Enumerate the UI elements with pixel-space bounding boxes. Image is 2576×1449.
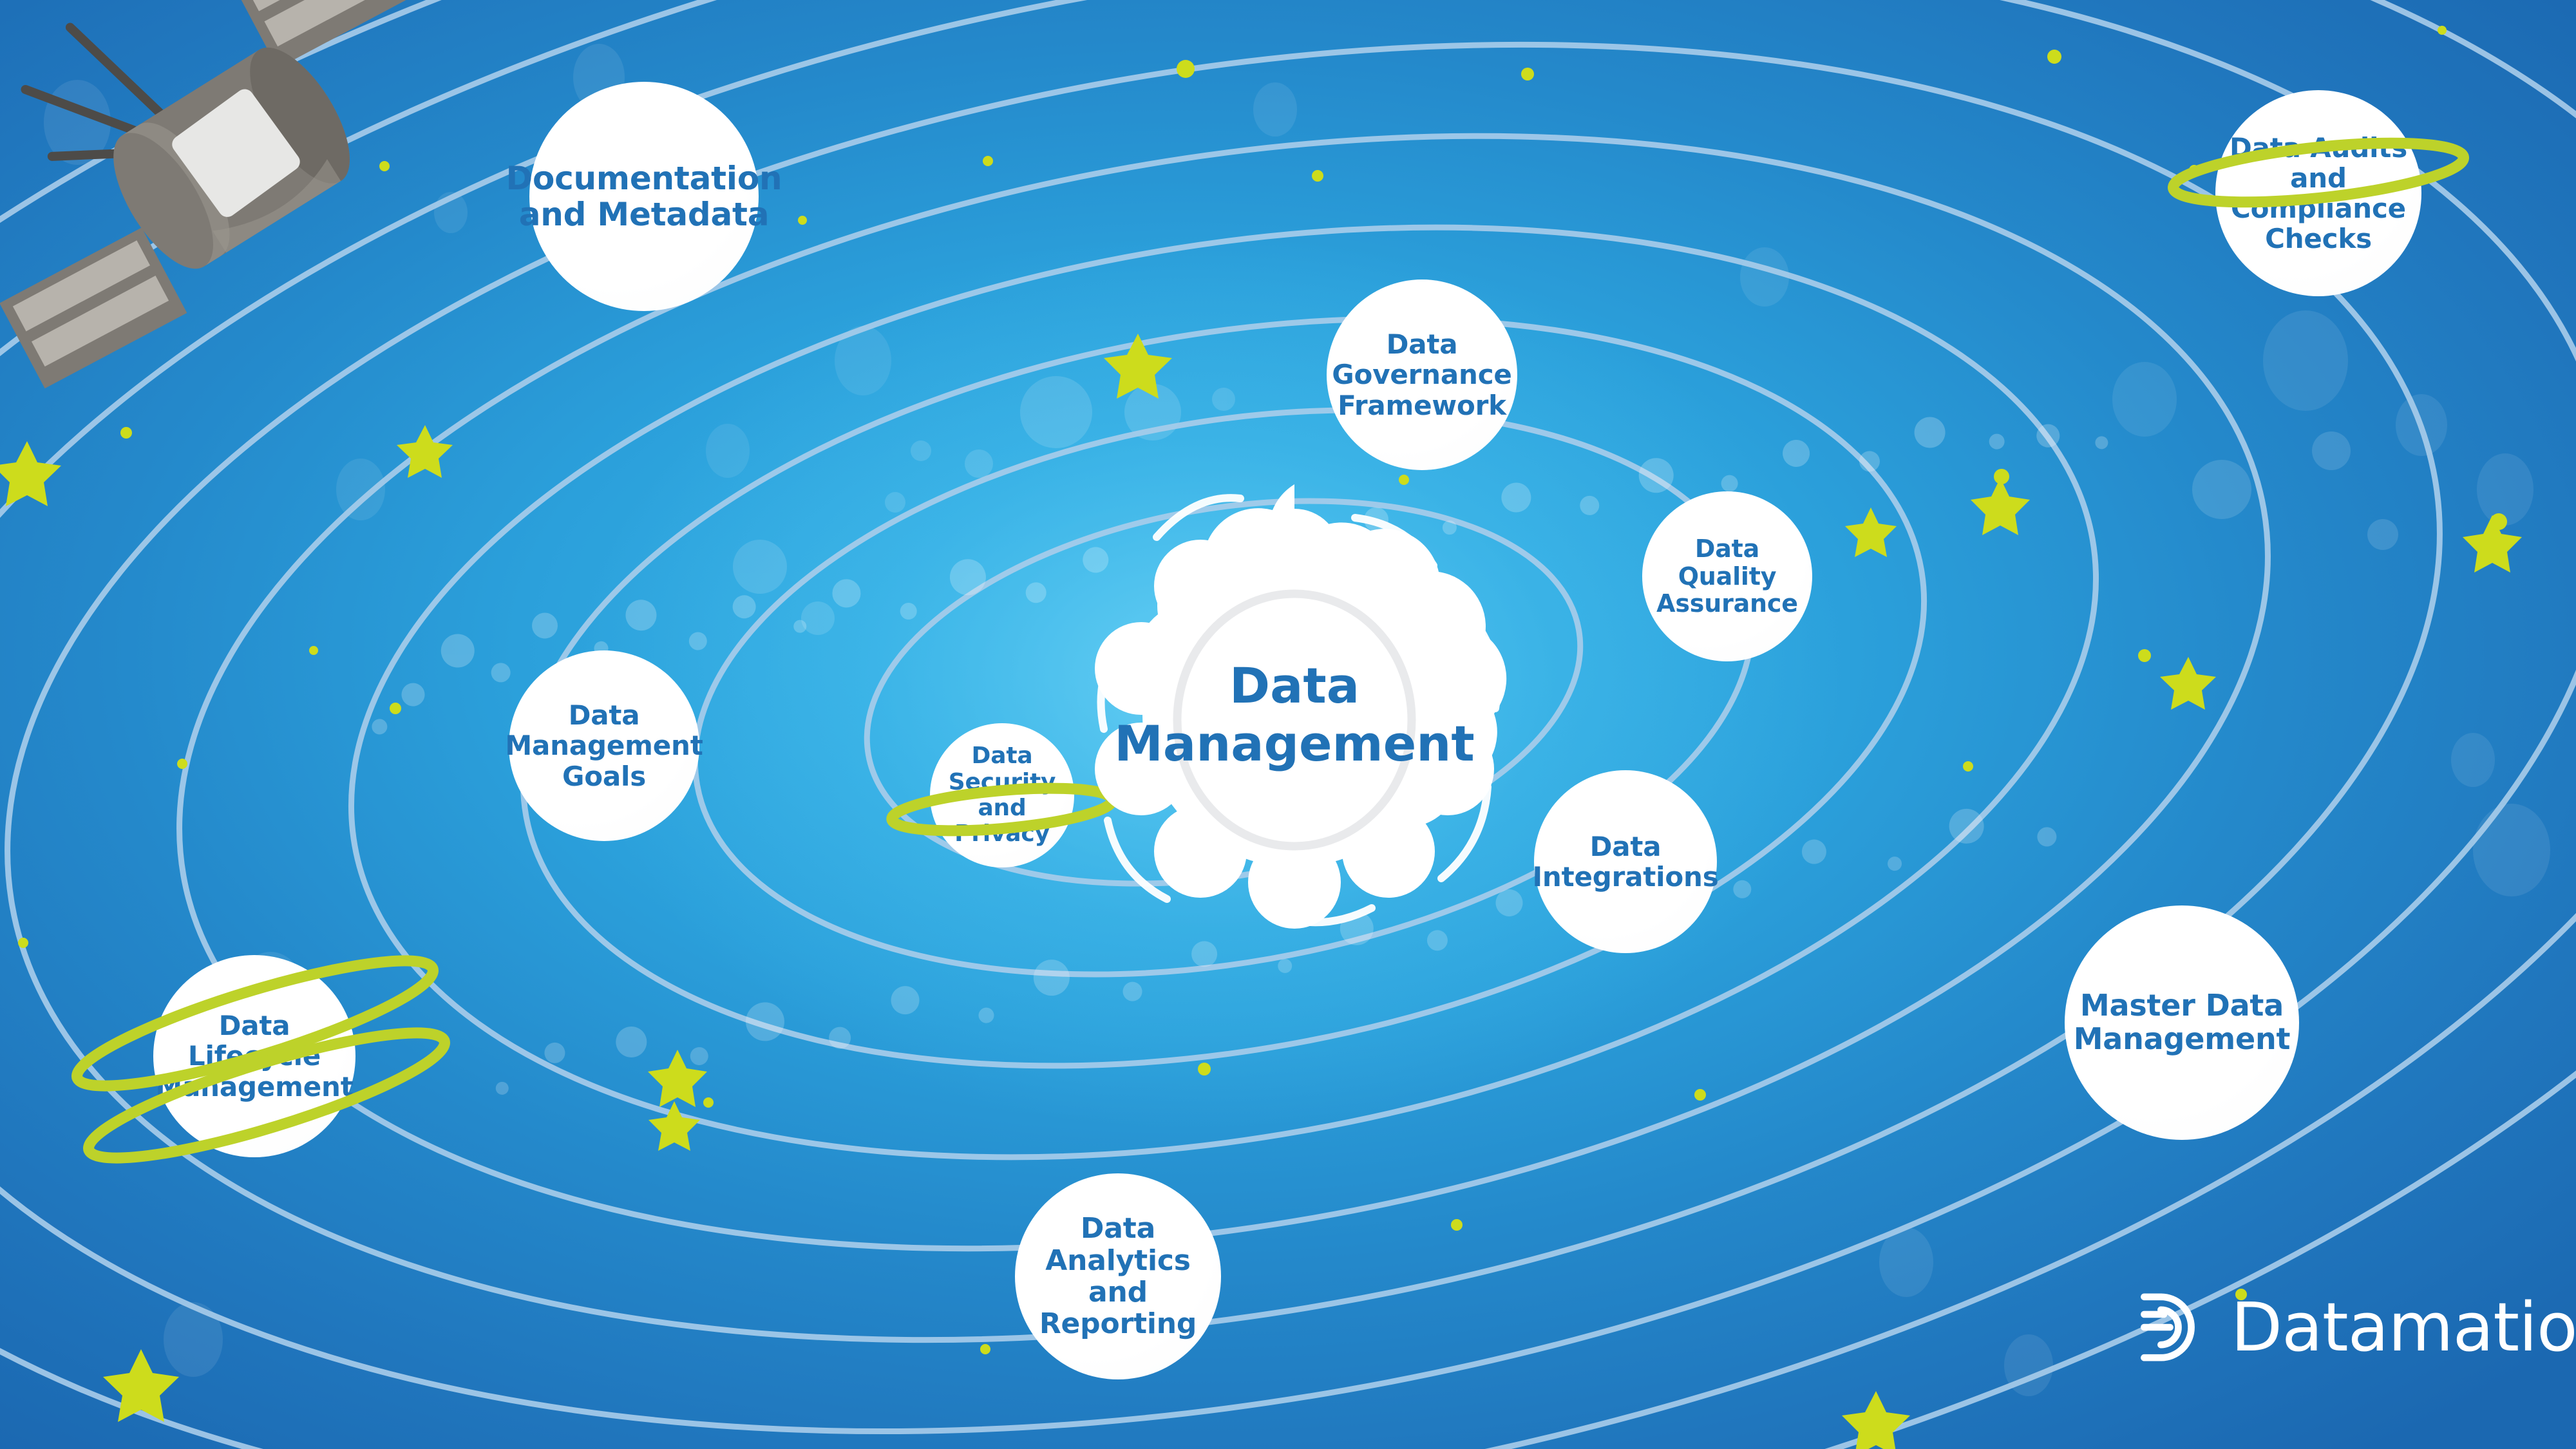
infographic-canvas: Documentationand MetadataData AuditsandC… <box>0 0 2576 1449</box>
core-label-line2: Management <box>1114 715 1474 773</box>
core-label-line1: Data <box>1114 657 1474 715</box>
datamation-wordmark: Datamation <box>2231 1288 2576 1367</box>
datamation-d-logo-icon <box>2138 1289 2214 1365</box>
datamation-logo[interactable]: Datamation <box>2138 1288 2576 1367</box>
core-label-wrap: Data Management <box>1101 522 1488 908</box>
